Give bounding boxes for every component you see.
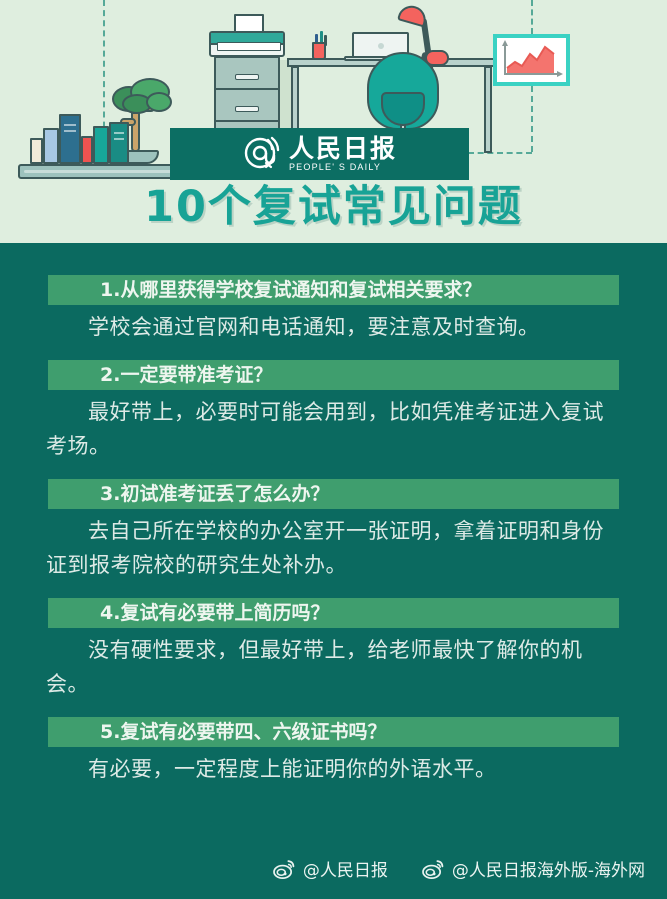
book-3	[59, 114, 81, 164]
page-title: 10个复试常见问题	[0, 186, 667, 229]
weibo-handle-overseas[interactable]: @人民日报海外版-海外网	[422, 856, 645, 881]
book-4	[81, 136, 93, 164]
question-bar: 2.一定要带准考证？	[48, 360, 619, 390]
footer-handles: @人民日报 @人民日报海外版-海外网	[0, 856, 667, 881]
header-illustration-area: 人民日报 PEOPLE' S DAILY 10个复试常见问题	[0, 0, 667, 243]
infographic-page: 人民日报 PEOPLE' S DAILY 10个复试常见问题 1.从哪里获得学校…	[0, 0, 667, 899]
answer-text: 学校会通过官网和电话通知，要注意及时查询。	[46, 310, 621, 344]
question-bar: 5.复试有必要带四、六级证书吗？	[48, 717, 619, 747]
printer-output-slot	[217, 42, 281, 51]
answer-text: 没有硬性要求，但最好带上，给老师最快了解你的机会。	[46, 633, 621, 701]
growth-chart-icon	[493, 34, 570, 86]
book-5	[93, 126, 109, 164]
book-1	[30, 138, 43, 164]
answer-text: 最好带上，必要时可能会用到，比如凭准考证进入复试考场。	[46, 395, 621, 463]
logo-brand-cn: 人民日报	[289, 136, 397, 162]
area-chart-graphic	[497, 38, 566, 82]
question-bar: 1.从哪里获得学校复试通知和复试相关要求？	[48, 275, 619, 305]
book-6	[109, 122, 129, 164]
weibo-icon	[273, 859, 296, 879]
qa-list: 1.从哪里获得学校复试通知和复试相关要求？ 学校会通过官网和电话通知，要注意及时…	[0, 275, 667, 802]
logo-brand-en: PEOPLE' S DAILY	[289, 162, 381, 174]
weibo-icon	[422, 859, 445, 879]
question-bar: 3.初试准考证丢了怎么办？	[48, 479, 619, 509]
qa-item: 5.复试有必要带四、六级证书吗？ 有必要，一定程度上能证明你的外语水平。	[0, 717, 667, 786]
qa-item: 1.从哪里获得学校复试通知和复试相关要求？ 学校会通过官网和电话通知，要注意及时…	[0, 275, 667, 344]
qa-item: 3.初试准考证丢了怎么办？ 去自己所在学校的办公室开一张证明，拿着证明和身份证到…	[0, 479, 667, 582]
lamp-shade	[397, 2, 429, 27]
weibo-handle-main[interactable]: @人民日报	[273, 856, 388, 881]
answer-text: 去自己所在学校的办公室开一张证明，拿着证明和身份证到报考院校的研究生处补办。	[46, 514, 621, 582]
qa-item: 2.一定要带准考证？ 最好带上，必要时可能会用到，比如凭准考证进入复试考场。	[0, 360, 667, 463]
pen-cup	[312, 42, 326, 60]
laptop-logo	[378, 43, 384, 49]
answer-text: 有必要，一定程度上能证明你的外语水平。	[46, 752, 621, 786]
printer	[209, 31, 285, 57]
weibo-handle-label: @人民日报	[303, 856, 388, 881]
desk-leg-right	[484, 66, 492, 153]
bonsai-foliage-4	[146, 92, 172, 112]
peoples-daily-logo-banner: 人民日报 PEOPLE' S DAILY	[170, 128, 469, 180]
question-bar: 4.复试有必要带上简历吗？	[48, 598, 619, 628]
book-2	[43, 128, 59, 164]
qa-item: 4.复试有必要带上简历吗？ 没有硬性要求，但最好带上，给老师最快了解你的机会。	[0, 598, 667, 701]
weibo-handle-label: @人民日报海外版-海外网	[452, 856, 645, 881]
at-sign-icon	[242, 134, 282, 174]
content-area: 1.从哪里获得学校复试通知和复试相关要求？ 学校会通过官网和电话通知，要注意及时…	[0, 243, 667, 899]
